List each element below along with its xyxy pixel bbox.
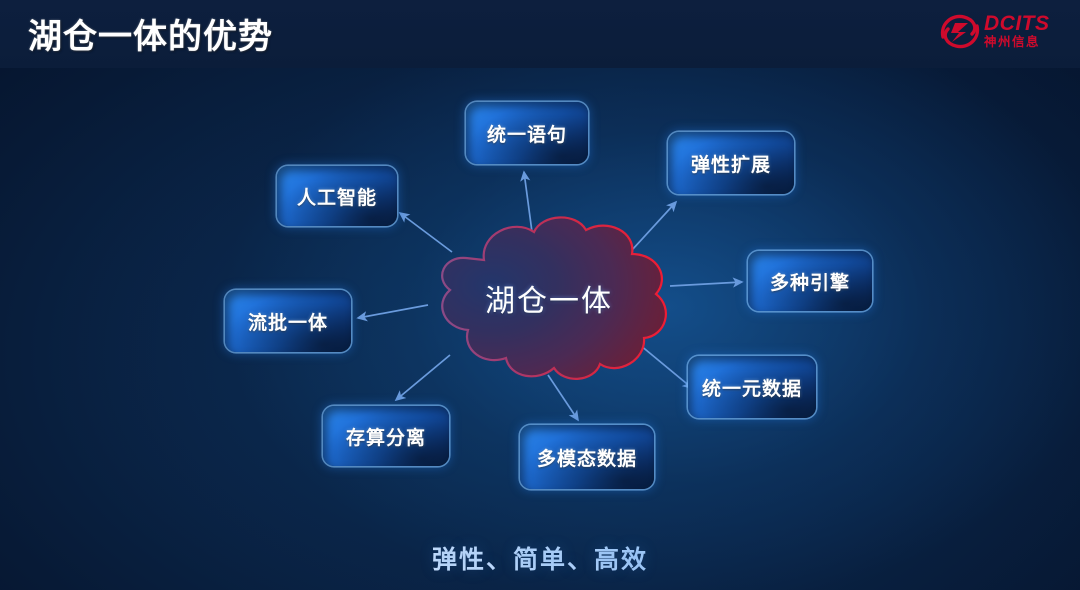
node-label: 多模态数据: [537, 444, 637, 471]
node-storage-compute[interactable]: 存算分离: [323, 406, 449, 466]
mindmap-diagram: 湖仓一体 统一语句弹性扩展人工智能多种引擎流批一体统一元数据存算分离多模态数据: [0, 0, 1080, 590]
slide-caption: 弹性、简单、高效: [0, 540, 1080, 576]
node-unified-syntax[interactable]: 统一语句: [466, 102, 588, 164]
node-label: 流批一体: [248, 308, 328, 335]
edge-multi-engine: [670, 282, 742, 286]
node-multi-engine[interactable]: 多种引擎: [748, 251, 872, 311]
node-multimodal-data[interactable]: 多模态数据: [520, 425, 654, 489]
central-cloud-shape: [418, 212, 680, 384]
slide-root: 湖仓一体的优势 DCITS 神州信息: [0, 0, 1080, 590]
node-label: 存算分离: [346, 423, 426, 450]
node-stream-batch[interactable]: 流批一体: [225, 290, 351, 352]
node-label: 弹性扩展: [691, 150, 771, 177]
node-label: 统一语句: [487, 120, 567, 147]
node-artificial-intel[interactable]: 人工智能: [277, 166, 397, 226]
node-label: 人工智能: [297, 183, 377, 210]
node-label: 统一元数据: [702, 374, 802, 401]
node-elastic-scaling[interactable]: 弹性扩展: [668, 132, 794, 194]
node-label: 多种引擎: [770, 268, 850, 295]
node-unified-metadata[interactable]: 统一元数据: [688, 356, 816, 418]
